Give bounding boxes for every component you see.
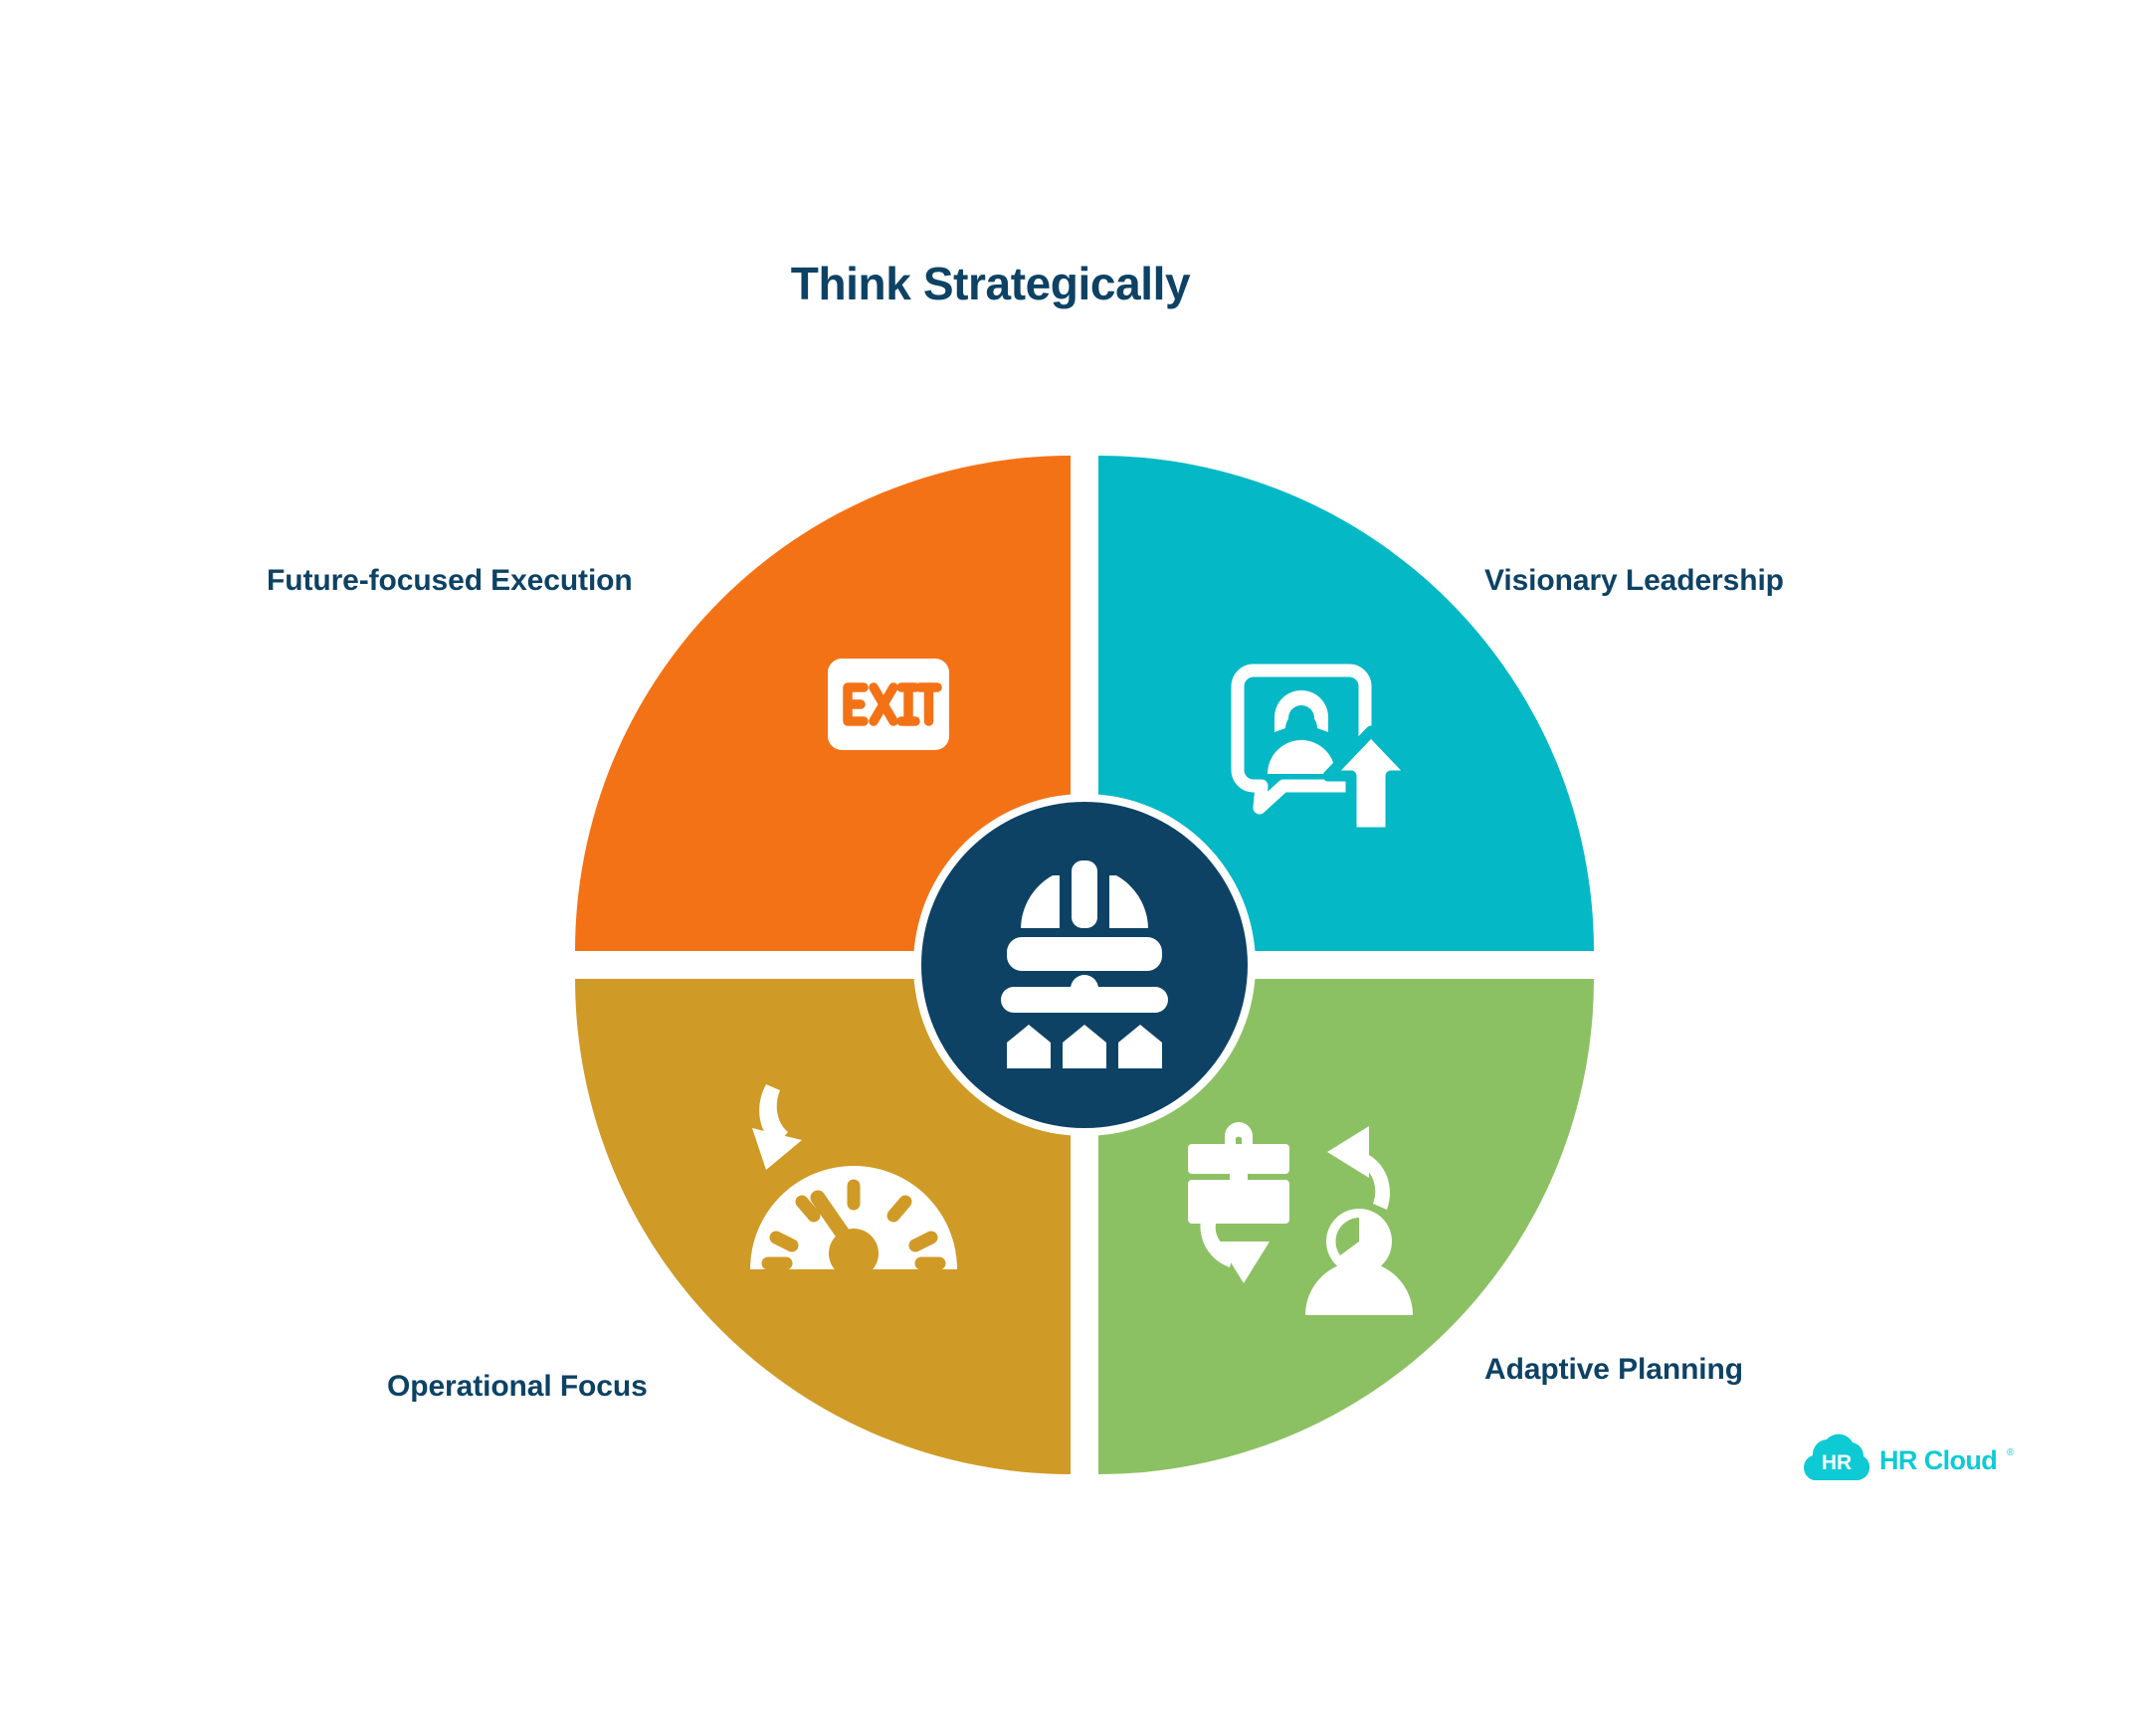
quadrant-label-operational-focus: Operational Focus [387, 1370, 648, 1403]
quadrant-label-adaptive-planning: Adaptive Planning [1484, 1353, 1743, 1386]
logo-mark-text: HR [1822, 1451, 1852, 1474]
quadrant-label-future-focused-execution: Future-focused Execution [267, 564, 633, 597]
hr-cloud-logo[interactable]: HR HR Cloud ® [1801, 1431, 2020, 1488]
exit-sign-icon [828, 659, 949, 750]
center-node[interactable] [913, 794, 1256, 1136]
quadrant-label-visionary-leadership: Visionary Leadership [1484, 564, 1784, 597]
logo-registered-mark: ® [2007, 1447, 2015, 1458]
quadrant-wheel-diagram [537, 418, 1632, 1512]
logo-wordmark: HR Cloud [1879, 1445, 1997, 1475]
page-title: Think Strategically [0, 257, 2068, 310]
